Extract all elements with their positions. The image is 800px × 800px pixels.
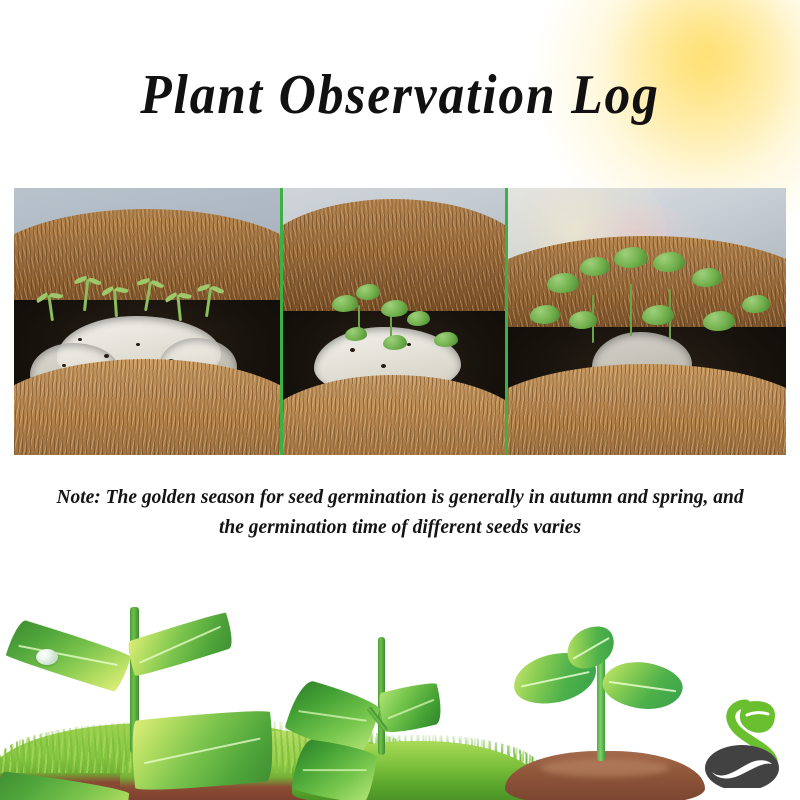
leaf-vein xyxy=(303,769,367,771)
soil-speck xyxy=(104,354,109,358)
plant-large-leaf-upper-right xyxy=(124,610,237,679)
seedling-leaf xyxy=(332,295,358,312)
plant-leaf xyxy=(614,247,648,268)
leaf-vein xyxy=(388,699,435,719)
coir-pot-rim-bottom xyxy=(283,375,505,455)
plant-leaf xyxy=(692,268,722,287)
photo-3[interactable] xyxy=(508,188,786,455)
photo-2[interactable] xyxy=(283,188,505,455)
seedling-leaf xyxy=(383,335,407,350)
soil-speck xyxy=(350,348,355,352)
soil-speck xyxy=(381,364,386,368)
leaf-shape xyxy=(291,738,378,800)
plant-large-leaf-upper-left xyxy=(5,618,132,693)
soil-speck xyxy=(78,338,82,341)
leaf-vein xyxy=(140,626,222,664)
plant-large-leaf-right xyxy=(128,707,277,795)
coir-pot-rim-bottom xyxy=(14,359,280,455)
page-title: Plant Observation Log xyxy=(32,60,768,130)
leaf-shape xyxy=(124,610,237,679)
note-text: Note: The golden season for seed germina… xyxy=(49,482,752,542)
leaf-vein xyxy=(299,710,367,722)
plant-observation-log-page: Plant Observation Log xyxy=(0,0,800,800)
plant-sprout-cotyledon-right xyxy=(600,657,686,714)
logo-leaf-path xyxy=(740,701,775,733)
photo-strip xyxy=(14,188,786,455)
leaf-vein xyxy=(144,737,261,764)
water-droplet xyxy=(36,649,58,665)
seedling-leaf xyxy=(407,311,430,326)
plant-leaf xyxy=(703,311,735,331)
plant-leaf xyxy=(569,311,597,329)
plant-leaf xyxy=(653,252,685,272)
photo-1[interactable] xyxy=(14,188,280,455)
leaf-shape xyxy=(5,618,132,693)
seed-sprout-logo[interactable] xyxy=(700,692,786,788)
coir-pot-rim-bottom xyxy=(508,364,786,455)
leaf-shape xyxy=(600,657,686,714)
leaf-vein xyxy=(572,637,609,660)
illustration-band xyxy=(0,545,800,800)
plant-leaf xyxy=(742,295,770,313)
leaf-shape xyxy=(128,707,277,795)
leaf-vein xyxy=(19,645,118,666)
leaf-vein xyxy=(609,681,676,692)
plant-medium-leaf-left xyxy=(291,738,378,800)
seedling-leaf xyxy=(345,327,367,341)
seedling-leaf xyxy=(381,300,408,317)
